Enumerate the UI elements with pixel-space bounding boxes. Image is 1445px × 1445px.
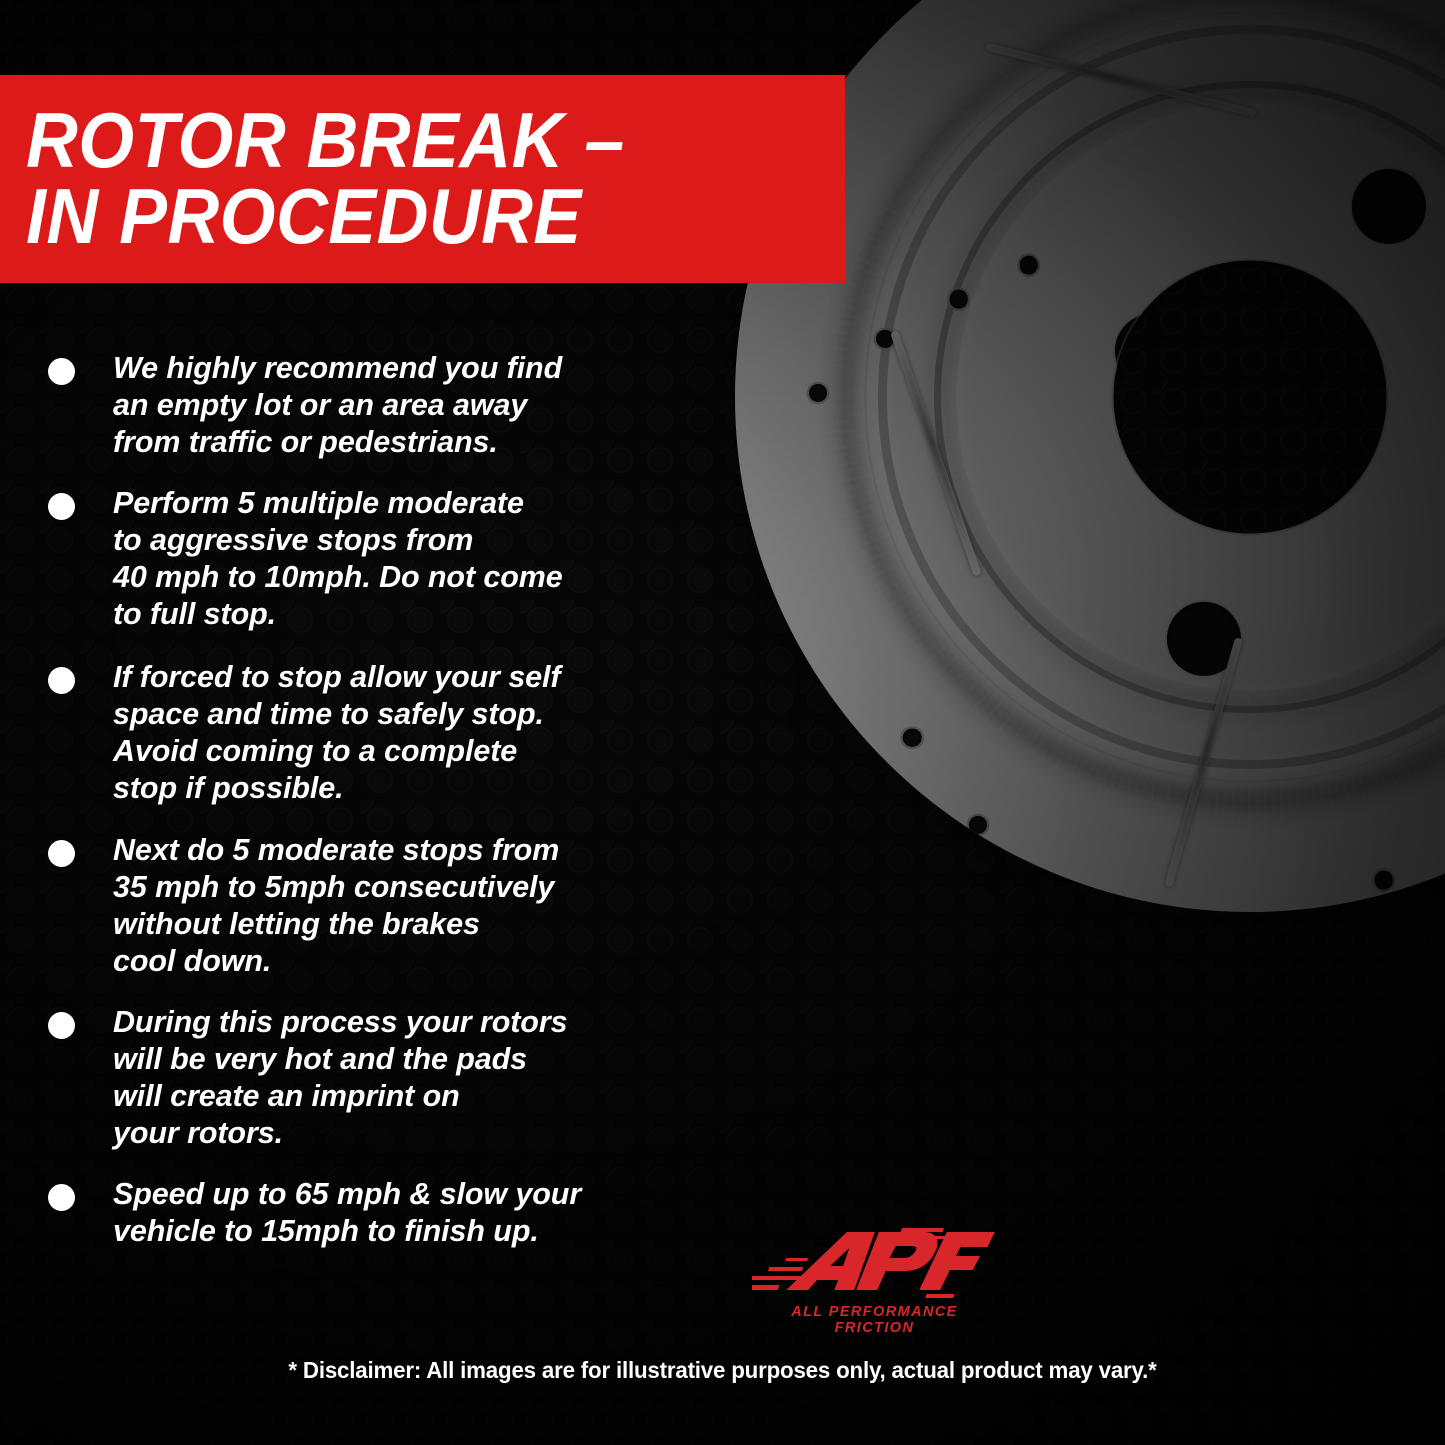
bullet-dot-icon	[48, 493, 75, 520]
page-title-line-2: IN PROCEDURE	[26, 179, 779, 255]
procedure-step-list: We highly recommend you find an empty lo…	[48, 350, 768, 1274]
list-item: During this process your rotors will be …	[48, 1004, 768, 1152]
apf-brand-logo: ALL PERFORMANCE FRICTION	[752, 1228, 997, 1336]
list-item: Perform 5 multiple moderate to aggressiv…	[48, 485, 768, 633]
poster-canvas: ROTOR BREAK – IN PROCEDURE We highly rec…	[0, 0, 1445, 1445]
page-title-line-1: ROTOR BREAK –	[26, 103, 779, 179]
list-item: If forced to stop allow your self space …	[48, 659, 768, 807]
list-item-label: If forced to stop allow your self space …	[113, 659, 560, 807]
bullet-dot-icon	[48, 358, 75, 385]
title-banner: ROTOR BREAK – IN PROCEDURE	[0, 75, 845, 283]
list-item-label: We highly recommend you find an empty lo…	[113, 350, 562, 461]
bullet-dot-icon	[48, 667, 75, 694]
bullet-dot-icon	[48, 840, 75, 867]
bullet-dot-icon	[48, 1012, 75, 1039]
list-item: We highly recommend you find an empty lo…	[48, 350, 768, 461]
apf-logo-icon	[752, 1228, 997, 1306]
list-item-label: During this process your rotors will be …	[113, 1004, 567, 1152]
list-item-label: Speed up to 65 mph & slow your vehicle t…	[113, 1176, 581, 1250]
disclaimer-text: * Disclaimer: All images are for illustr…	[22, 1357, 1424, 1384]
bullet-dot-icon	[48, 1184, 75, 1211]
list-item-label: Next do 5 moderate stops from 35 mph to …	[113, 832, 559, 980]
list-item-label: Perform 5 multiple moderate to aggressiv…	[113, 485, 563, 633]
apf-logo-tagline: ALL PERFORMANCE FRICTION	[752, 1304, 997, 1336]
list-item: Speed up to 65 mph & slow your vehicle t…	[48, 1176, 768, 1250]
list-item: Next do 5 moderate stops from 35 mph to …	[48, 832, 768, 980]
